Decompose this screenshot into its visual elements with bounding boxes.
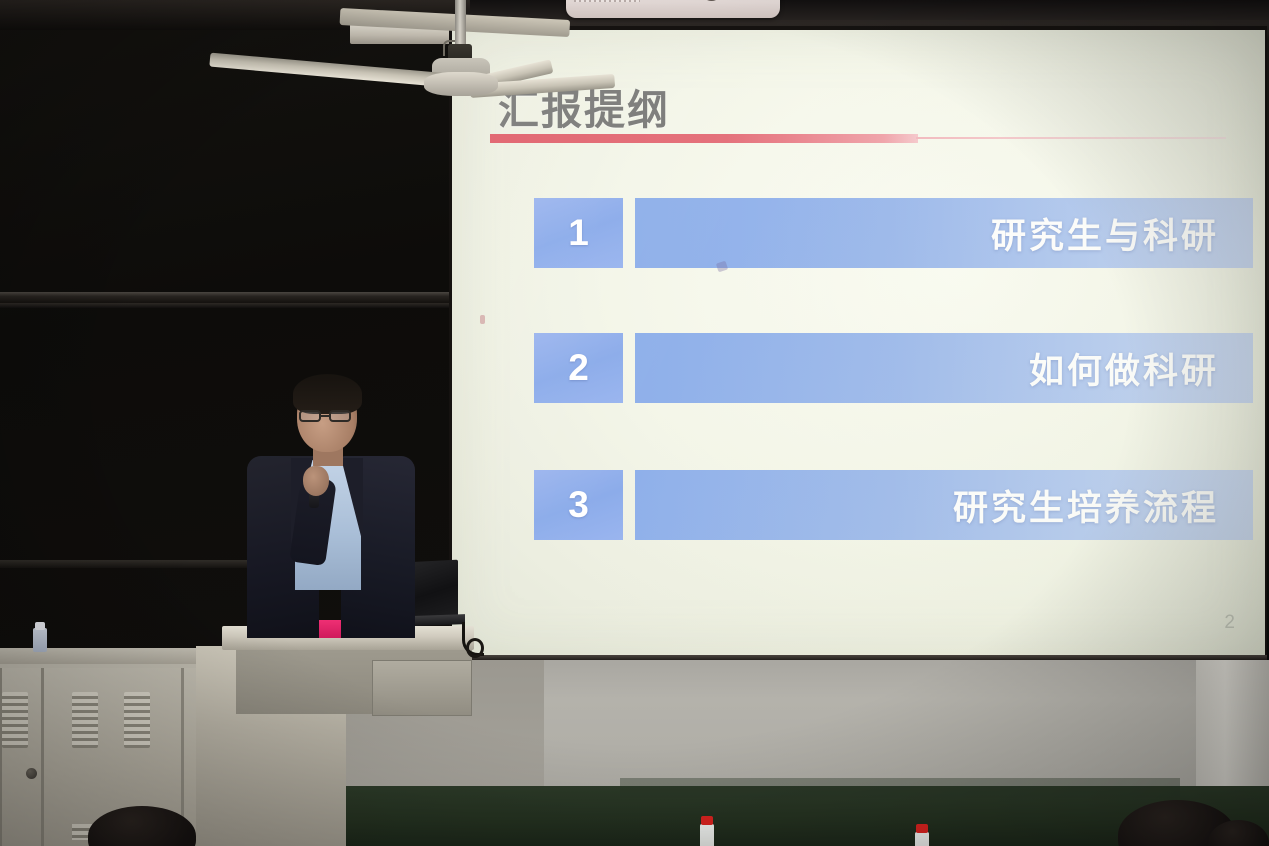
eyeglasses-bridge [321,415,329,417]
slide-page-number: 2 [1224,612,1235,634]
presenter-hair [293,374,362,414]
fan-hub [424,72,498,96]
agenda-label-1: 研究生与科研 [991,208,1219,259]
locker-vent-0 [2,692,28,748]
chalk-rail [0,292,470,303]
screen-smudge-2 [480,315,485,324]
audience-bottle-1 [700,824,714,846]
agenda-bar-2: 如何做科研 [635,333,1253,403]
projector-mount-knob [702,0,721,1]
locker-vent-1b [124,692,150,748]
water-bottle-cap [35,622,45,630]
presenter-lapel-right [341,458,363,544]
projector-vents [574,0,640,2]
agenda-number-badge-1: 1 [534,198,623,268]
audience-bottle-2 [915,832,929,846]
ceiling-projector [566,0,780,18]
eyeglasses-right-lens [329,410,351,422]
agenda-number-badge-3: 3 [534,470,623,540]
slide: 汇报提纲 1 研究生与科研 2 如何做科研 3 研究生培养流程 [452,30,1265,658]
locker-vent-1a [72,692,98,748]
agenda-bar-3: 研究生培养流程 [635,470,1253,540]
green-wainscot-highlight [620,778,1180,798]
locker-knob[interactable] [26,768,37,779]
agenda-label-3: 研究生培养流程 [953,480,1219,531]
eyeglasses-left-lens [299,410,321,422]
photo-scene: 汇报提纲 1 研究生与科研 2 如何做科研 3 研究生培养流程 [0,0,1269,846]
presenter [243,378,418,638]
title-underline-hairline [916,137,1226,139]
water-bottle [33,628,47,652]
agenda-number-badge-2: 2 [534,333,623,403]
desk-equipment-panel [372,660,472,716]
power-cable-loop [466,638,484,658]
chalk-rail-shadow [0,303,470,308]
agenda-label-2: 如何做科研 [1029,343,1219,394]
presenter-hand [303,466,329,496]
agenda-bar-1: 研究生与科研 [635,198,1253,268]
projection-screen: 汇报提纲 1 研究生与科研 2 如何做科研 3 研究生培养流程 [452,30,1265,658]
title-underline-bar [490,134,918,143]
